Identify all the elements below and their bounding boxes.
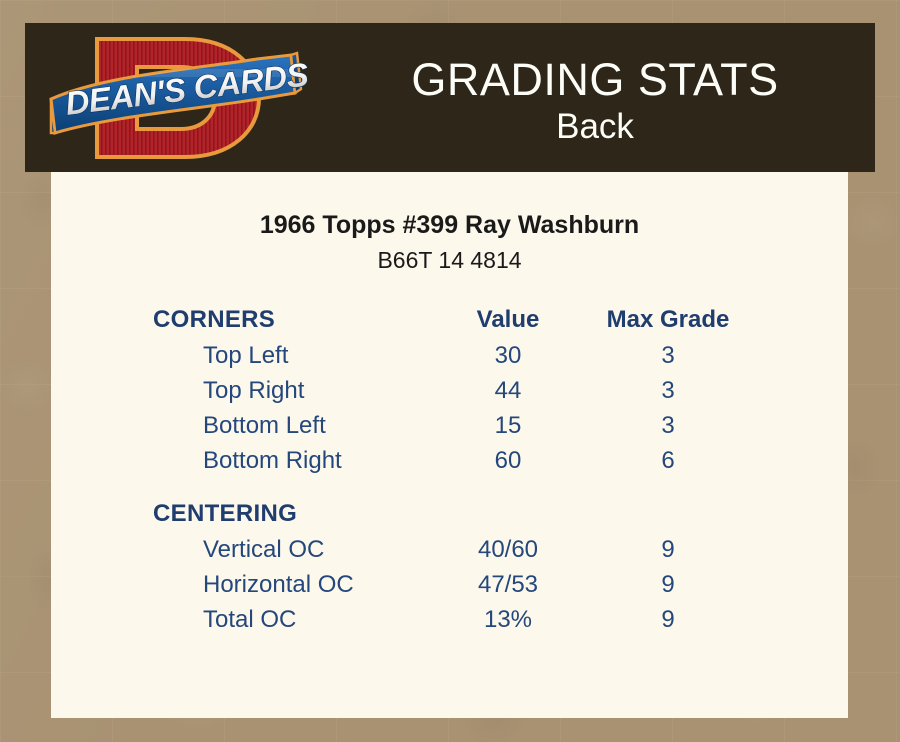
grading-stats-table: CORNERS Value Max Grade Top Left 30 3 To… [51,306,848,641]
section-header-row: CORNERS Value Max Grade [153,306,818,342]
row-max-grade: 3 [583,342,753,370]
row-label: Vertical OC [153,536,433,564]
stat-section-corners: CORNERS Value Max Grade Top Left 30 3 To… [153,306,818,482]
header-titles: GRADING STATS Back [315,23,875,172]
page-title: GRADING STATS [411,54,778,106]
content-panel: 1966 Topps #399 Ray Washburn B66T 14 481… [51,172,848,718]
column-header-value: Value [433,306,583,334]
row-max-grade: 9 [583,606,753,634]
section-title-centering: CENTERING [153,500,433,528]
table-row: Top Right 44 3 [153,377,818,412]
row-max-grade: 9 [583,536,753,564]
table-row: Bottom Right 60 6 [153,447,818,482]
row-label: Bottom Left [153,412,433,440]
row-label: Top Left [153,342,433,370]
row-label: Total OC [153,606,433,634]
page-subtitle: Back [556,106,634,148]
logo-svg: DEAN'S CARDS [45,29,315,167]
stat-section-centering: CENTERING Vertical OC 40/60 9 Horizontal… [153,500,818,641]
row-label: Horizontal OC [153,571,433,599]
deans-cards-logo[interactable]: DEAN'S CARDS [45,29,315,167]
table-row: Bottom Left 15 3 [153,412,818,447]
table-row: Horizontal OC 47/53 9 [153,571,818,606]
row-label: Top Right [153,377,433,405]
section-title-corners: CORNERS [153,306,433,334]
row-value: 30 [433,342,583,370]
row-label: Bottom Right [153,447,433,475]
card-identifier: B66T 14 4814 [51,246,848,274]
row-max-grade: 3 [583,377,753,405]
section-header-row: CENTERING [153,500,818,536]
row-value: 40/60 [433,536,583,564]
row-max-grade: 6 [583,447,753,475]
table-row: Top Left 30 3 [153,342,818,377]
row-value: 13% [433,606,583,634]
section-spacer [153,486,818,500]
header-bar: DEAN'S CARDS GRADING STATS Back [25,23,875,172]
row-max-grade: 9 [583,571,753,599]
row-value: 15 [433,412,583,440]
card-title: 1966 Topps #399 Ray Washburn [51,210,848,240]
row-value: 47/53 [433,571,583,599]
table-row: Total OC 13% 9 [153,606,818,641]
row-max-grade: 3 [583,412,753,440]
row-value: 44 [433,377,583,405]
row-value: 60 [433,447,583,475]
column-header-max-grade: Max Grade [583,306,753,334]
table-row: Vertical OC 40/60 9 [153,536,818,571]
